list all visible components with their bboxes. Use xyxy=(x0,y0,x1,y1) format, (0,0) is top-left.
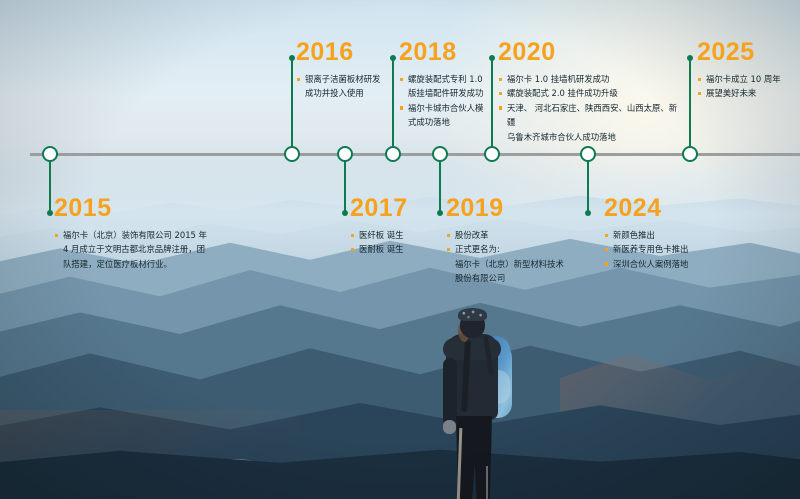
milestone-bullet-cont: 式成功落地 xyxy=(399,115,509,129)
milestone-bullet: 医耐板 诞生 xyxy=(350,242,450,256)
milestone-bullet-cont: 福尔卡（北京）新型材料技术 xyxy=(446,257,571,271)
milestone-bullet: 天津、 河北石家庄、陕西西安、山西太原、新疆 xyxy=(498,101,683,130)
milestone-bullet-cont: 乌鲁木齐城市合伙人成功落地 xyxy=(498,130,683,144)
milestone-bullet: 福尔卡 1.0 挂墙机研发成功 xyxy=(498,72,683,86)
milestone-year: 2019 xyxy=(446,196,571,221)
node-ring xyxy=(580,146,596,162)
milestone-2017[interactable]: 2017 医纤板 诞生 医耐板 诞生 xyxy=(350,196,450,257)
milestone-year: 2017 xyxy=(350,196,450,221)
milestone-bullet: 福尔卡城市合伙人模 xyxy=(399,101,509,115)
milestone-bullets: 福尔卡成立 10 周年 展望美好未来 xyxy=(697,72,800,101)
milestone-2025[interactable]: 2025 福尔卡成立 10 周年 展望美好未来 xyxy=(697,40,800,101)
milestone-bullet: 新医养专用色卡推出 xyxy=(604,242,734,256)
node-stem xyxy=(291,58,294,154)
milestone-bullet-cont: 队搭建，定位医疗板材行业。 xyxy=(54,257,229,271)
milestone-bullets: 股份改革 正式更名为: 福尔卡（北京）新型材料技术 股份有限公司 xyxy=(446,228,571,286)
milestone-bullet-cont: 4 月成立于文明古都北京品牌注册，团 xyxy=(54,242,229,256)
node-stem xyxy=(49,154,52,213)
milestone-bullet: 股份改革 xyxy=(446,228,571,242)
milestone-year: 2025 xyxy=(697,40,800,65)
milestone-bullet: 新颜色推出 xyxy=(604,228,734,242)
milestone-bullets: 螺旋装配式专利 1.0 版挂墙配件研发成功 福尔卡城市合伙人模 式成功落地 xyxy=(399,72,509,130)
milestone-year: 2016 xyxy=(296,40,406,65)
milestone-2019[interactable]: 2019 股份改革 正式更名为: 福尔卡（北京）新型材料技术 股份有限公司 xyxy=(446,196,571,286)
milestone-bullet: 福尔卡（北京）装饰有限公司 2015 年 xyxy=(54,228,229,242)
node-ring xyxy=(432,146,448,162)
milestone-2016[interactable]: 2016 银离子洁菌板材研发 成功并投入使用 xyxy=(296,40,406,101)
milestone-year: 2020 xyxy=(498,40,683,65)
milestone-2024[interactable]: 2024 新颜色推出 新医养专用色卡推出 深圳合伙人案例落地 xyxy=(604,196,734,271)
milestone-bullet: 展望美好未来 xyxy=(697,86,800,100)
milestone-bullet: 医纤板 诞生 xyxy=(350,228,450,242)
milestone-bullet-cont: 股份有限公司 xyxy=(446,271,571,285)
milestone-bullet: 正式更名为: xyxy=(446,242,571,256)
milestone-2020[interactable]: 2020 福尔卡 1.0 挂墙机研发成功 螺旋装配式 2.0 挂件成功升级 天津… xyxy=(498,40,683,144)
milestone-year: 2018 xyxy=(399,40,509,65)
milestone-bullet: 福尔卡成立 10 周年 xyxy=(697,72,800,86)
milestone-year: 2015 xyxy=(54,196,229,221)
timeline-infographic: 2015 福尔卡（北京）装饰有限公司 2015 年 4 月成立于文明古都北京品牌… xyxy=(0,0,800,499)
node-ring xyxy=(682,146,698,162)
node-stem xyxy=(344,154,347,213)
node-stem xyxy=(689,58,692,154)
milestone-bullet-cont: 版挂墙配件研发成功 xyxy=(399,86,509,100)
node-stem xyxy=(587,154,590,213)
node-ring xyxy=(337,146,353,162)
node-ring xyxy=(484,146,500,162)
milestone-bullets: 福尔卡 1.0 挂墙机研发成功 螺旋装配式 2.0 挂件成功升级 天津、 河北石… xyxy=(498,72,683,144)
milestone-bullet: 螺旋装配式 2.0 挂件成功升级 xyxy=(498,86,683,100)
milestone-2015[interactable]: 2015 福尔卡（北京）装饰有限公司 2015 年 4 月成立于文明古都北京品牌… xyxy=(54,196,229,271)
milestone-bullets: 医纤板 诞生 医耐板 诞生 xyxy=(350,228,450,257)
node-ring xyxy=(385,146,401,162)
milestone-year: 2024 xyxy=(604,196,734,221)
milestone-bullets: 银离子洁菌板材研发 成功并投入使用 xyxy=(296,72,406,101)
milestone-bullet: 银离子洁菌板材研发 xyxy=(296,72,406,86)
node-ring xyxy=(284,146,300,162)
milestone-bullets: 福尔卡（北京）装饰有限公司 2015 年 4 月成立于文明古都北京品牌注册，团 … xyxy=(54,228,229,271)
milestone-bullet: 螺旋装配式专利 1.0 xyxy=(399,72,509,86)
milestone-bullets: 新颜色推出 新医养专用色卡推出 深圳合伙人案例落地 xyxy=(604,228,734,271)
node-ring xyxy=(42,146,58,162)
milestone-bullet-cont: 成功并投入使用 xyxy=(296,86,406,100)
milestone-2018[interactable]: 2018 螺旋装配式专利 1.0 版挂墙配件研发成功 福尔卡城市合伙人模 式成功… xyxy=(399,40,509,130)
milestone-bullet: 深圳合伙人案例落地 xyxy=(604,257,734,271)
